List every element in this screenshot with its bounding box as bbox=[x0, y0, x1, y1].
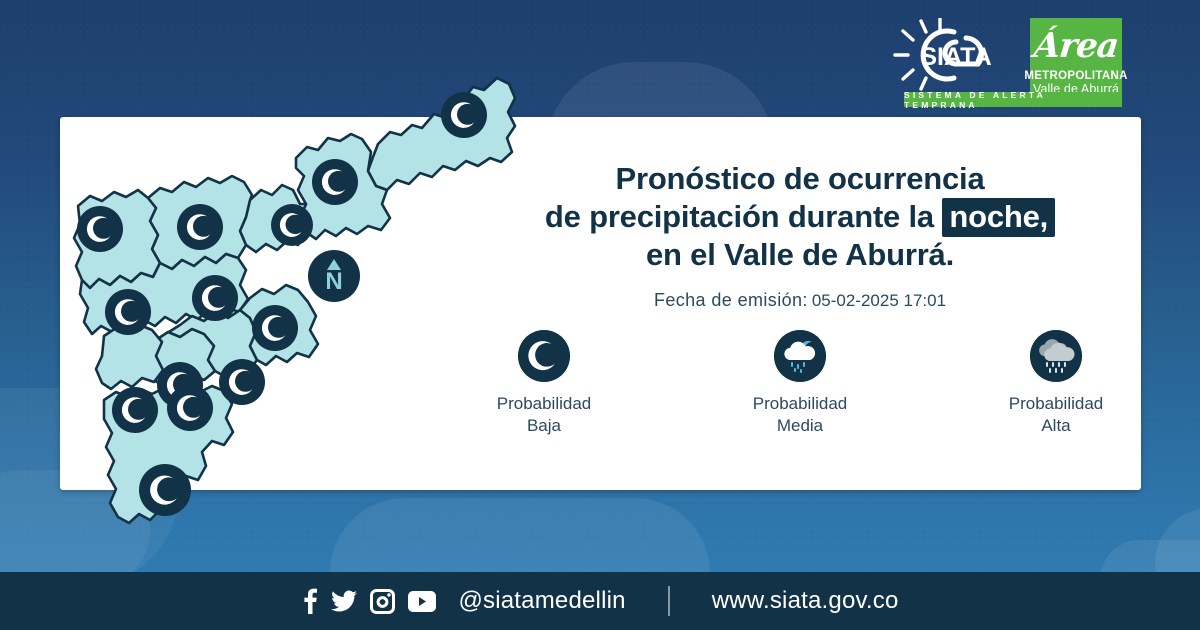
footer-content: @siatamedellin www.siata.gov.co bbox=[301, 586, 898, 616]
marker-medellin bbox=[105, 289, 151, 335]
social-handle[interactable]: @siatamedellin bbox=[458, 587, 625, 615]
legend-item-baja: Probabilidad Baja bbox=[470, 330, 618, 437]
legend-media-line1: Probabilidad bbox=[753, 393, 848, 415]
title-highlight-noche: noche, bbox=[942, 198, 1055, 237]
legend-label-media: Probabilidad Media bbox=[753, 393, 848, 437]
marker-san-pedro bbox=[177, 204, 223, 250]
siata-wordmark: SIATA bbox=[920, 43, 991, 71]
emission-date: Fecha de emisión:05-02-2025 17:01 bbox=[470, 290, 1130, 311]
facebook-icon[interactable] bbox=[301, 588, 318, 614]
compass-north-icon: N bbox=[308, 250, 360, 302]
probability-legend: Probabilidad Baja bbox=[470, 330, 1130, 437]
legend-label-alta: Probabilidad Alta bbox=[1009, 393, 1104, 437]
area-metropolitana-logo: Área METROPOLITANA Valle de Aburrá bbox=[1030, 18, 1122, 100]
legend-item-media: Probabilidad Media bbox=[726, 330, 874, 437]
sun-cloud-icon: SIATA bbox=[892, 18, 1020, 92]
legend-alta-line1: Probabilidad bbox=[1009, 393, 1104, 415]
legend-media-line2: Media bbox=[753, 415, 848, 437]
title-line-3: en el Valle de Aburrá. bbox=[470, 236, 1130, 274]
emission-date-value: 05-02-2025 17:01 bbox=[812, 291, 946, 310]
brand-logos: SIATA Área METROPOLITANA Valle de Aburrá bbox=[892, 18, 1122, 100]
moon-icon bbox=[518, 330, 570, 382]
cloud-heavy-rain-icon bbox=[1030, 330, 1082, 382]
title-line-2: de precipitación durante la noche, bbox=[470, 198, 1130, 236]
title-line-1: Pronóstico de ocurrencia bbox=[470, 160, 1130, 198]
marker-copacabana bbox=[271, 204, 313, 246]
page-title: Pronóstico de ocurrencia de precipitació… bbox=[470, 160, 1130, 274]
siata-tagline: SISTEMA DE ALERTA TEMPRANA bbox=[904, 92, 1122, 107]
emission-date-label: Fecha de emisión: bbox=[654, 290, 808, 310]
legend-alta-line2: Alta bbox=[1009, 415, 1104, 437]
siata-logo: SIATA bbox=[892, 18, 1020, 92]
website-url[interactable]: www.siata.gov.co bbox=[712, 587, 899, 615]
marker-caldas bbox=[167, 385, 213, 431]
cloud-moon-rain-icon bbox=[774, 330, 826, 382]
legend-item-alta: Probabilidad Alta bbox=[982, 330, 1130, 437]
headline-block: Pronóstico de ocurrencia de precipitació… bbox=[470, 160, 1130, 311]
valle-de-aburra-map: N bbox=[60, 40, 530, 580]
title-line-2-text: de precipitación durante la bbox=[545, 199, 934, 234]
marker-girardota bbox=[312, 159, 358, 205]
marker-la-estrella bbox=[112, 387, 158, 433]
marker-amaga bbox=[139, 464, 191, 516]
youtube-icon[interactable] bbox=[408, 591, 436, 612]
footer-divider bbox=[668, 586, 670, 616]
marker-envigado bbox=[252, 305, 298, 351]
marker-angelopolis bbox=[219, 359, 265, 405]
instagram-icon[interactable] bbox=[370, 589, 395, 614]
area-script-text: Área bbox=[1027, 20, 1124, 72]
compass-label: N bbox=[325, 268, 342, 295]
legend-baja-line2: Baja bbox=[497, 415, 592, 437]
social-icons bbox=[301, 588, 436, 614]
legend-baja-line1: Probabilidad bbox=[497, 393, 592, 415]
legend-label-baja: Probabilidad Baja bbox=[497, 393, 592, 437]
poster-canvas: SIATA Área METROPOLITANA Valle de Aburrá… bbox=[0, 0, 1200, 630]
footer-bar: @siatamedellin www.siata.gov.co bbox=[0, 572, 1200, 630]
marker-itagui bbox=[192, 275, 238, 321]
marker-bello bbox=[77, 206, 123, 252]
twitter-icon[interactable] bbox=[331, 588, 357, 614]
marker-barbosa bbox=[441, 92, 487, 138]
